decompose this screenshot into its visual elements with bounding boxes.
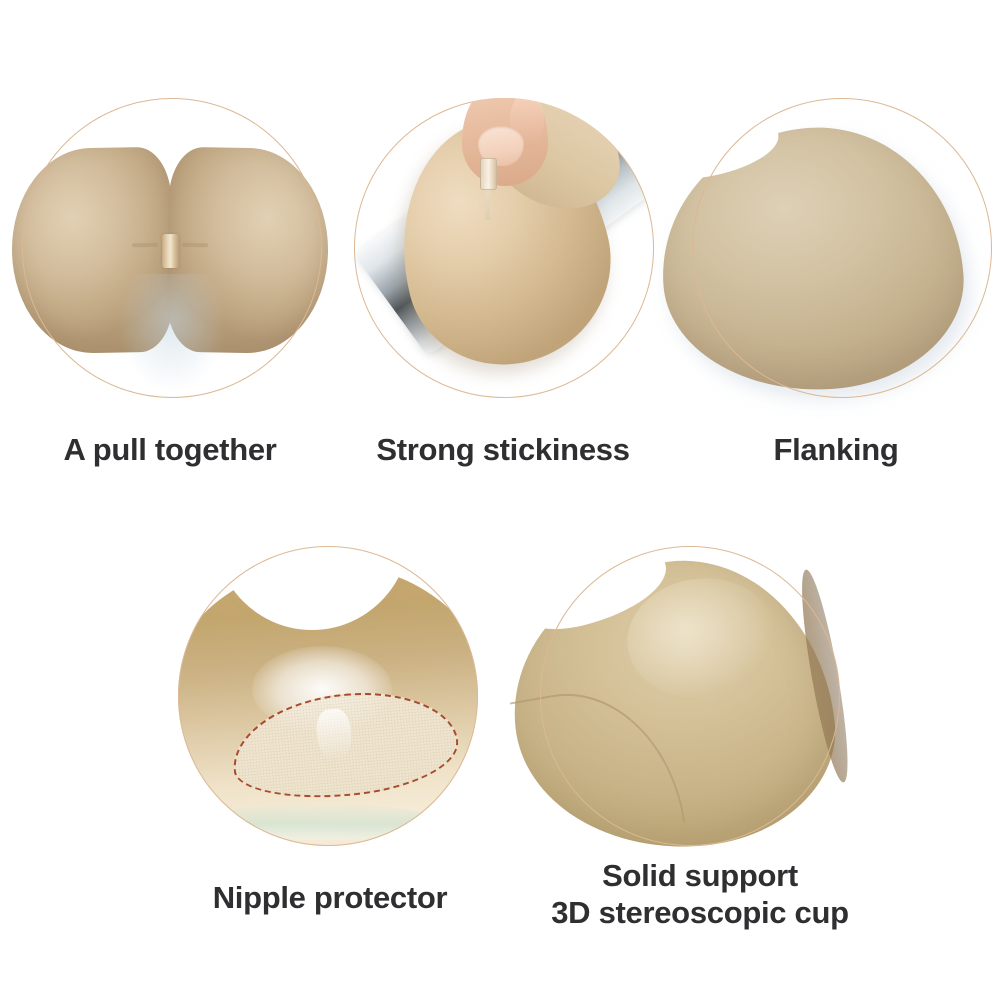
feature-flanking — [672, 90, 1000, 420]
circle-clip-nipple-protector — [178, 546, 478, 846]
feature-nipple-protector — [178, 540, 498, 880]
caption-flanking: Flanking — [672, 432, 1000, 469]
inner-cup-top-dip — [214, 546, 410, 630]
mesh-pad-fold — [315, 708, 353, 763]
infographic-page: A pull together Str — [0, 0, 1000, 1000]
circle-clip-stickiness — [354, 98, 654, 398]
molded-cup — [500, 546, 846, 864]
feature-solid-support — [540, 540, 860, 880]
feature-pull-together — [0, 90, 340, 420]
feature-strong-stickiness — [338, 90, 668, 420]
caption-solid-support: Solid support 3D stereoscopic cup — [520, 858, 880, 931]
seam-line — [510, 676, 685, 848]
side-cup — [653, 118, 971, 400]
hand-holding-cup — [462, 98, 548, 186]
caption-pull-together: A pull together — [0, 432, 340, 469]
side-cup-notch — [657, 118, 783, 184]
caption-strong-stickiness: Strong stickiness — [338, 432, 668, 469]
center-clasp — [162, 234, 179, 268]
cup-pair-illustration — [0, 90, 340, 420]
clear-clasp — [480, 158, 497, 190]
caption-nipple-protector: Nipple protector — [150, 880, 510, 917]
cup-edge-thickness — [793, 567, 856, 784]
glass-base — [204, 804, 440, 840]
cup-pair-shadow — [118, 274, 226, 394]
